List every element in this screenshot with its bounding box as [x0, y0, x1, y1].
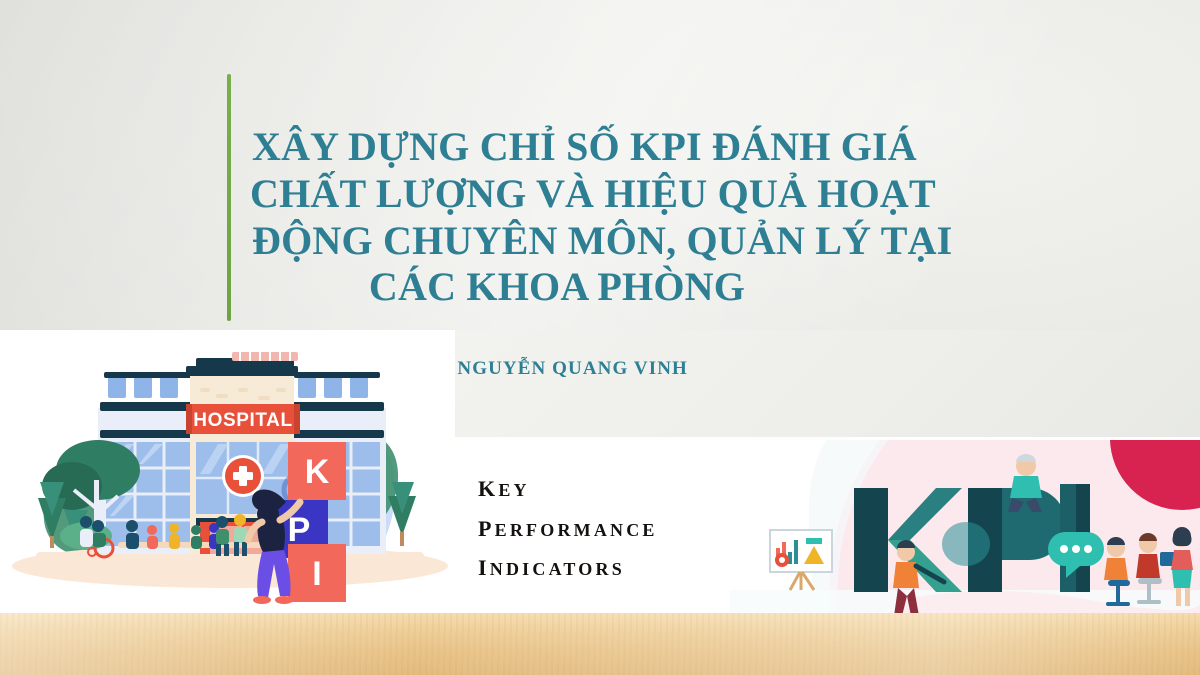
title-backdrop-panel: [455, 330, 1200, 438]
accent-rule: [227, 74, 231, 321]
kpi-banner-svg: [730, 440, 1200, 613]
svg-text:I: I: [312, 555, 321, 593]
page-title: XÂY DỰNG CHỈ SỐ KPI ĐÁNH GIÁ CHẤT LƯỢNG …: [252, 124, 862, 311]
presentation-slide: XÂY DỰNG CHỈ SỐ KPI ĐÁNH GIÁ CHẤT LƯỢNG …: [0, 0, 1200, 675]
wooden-desk-surface: [0, 613, 1200, 675]
svg-text:K: K: [305, 453, 330, 491]
kpi-banner-illustration: [730, 440, 1200, 613]
title-line-4: CÁC KHOA PHÒNG: [252, 264, 862, 311]
title-line-3: ĐỘNG CHUYÊN MÔN, QUẢN LÝ TẠI: [252, 218, 862, 265]
hospital-illustration-svg: HOSPITAL: [0, 330, 455, 613]
svg-text:HOSPITAL: HOSPITAL: [193, 410, 292, 431]
hospital-illustration: HOSPITAL: [0, 330, 455, 613]
title-line-1: XÂY DỰNG CHỈ SỐ KPI ĐÁNH GIÁ: [252, 124, 862, 171]
title-line-2: CHẤT LƯỢNG VÀ HIỆU QUẢ HOẠT: [250, 171, 862, 218]
